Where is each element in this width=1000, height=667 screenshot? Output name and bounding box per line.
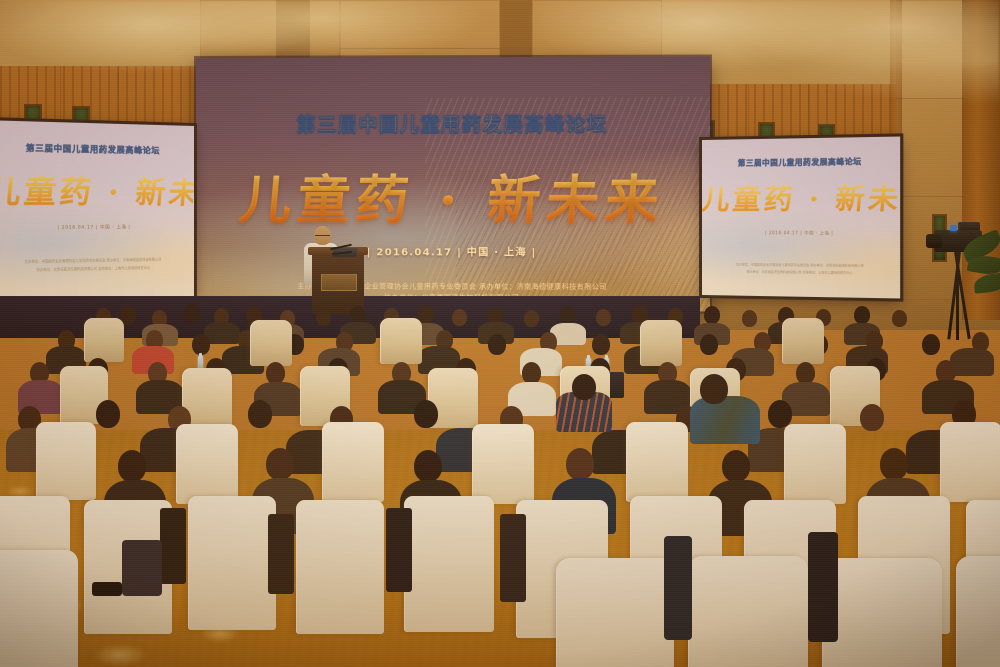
- audience-chair: [626, 422, 688, 502]
- audience-head: [560, 306, 576, 324]
- audience-shoe: [92, 582, 122, 596]
- audience-head: [596, 309, 611, 326]
- left-screen-title: 第三届中国儿童用药发展高峰论坛: [0, 142, 194, 157]
- audience-person-legs: [122, 540, 162, 596]
- audience-head: [524, 310, 539, 327]
- banner-slogan: 儿童药 · 新未来: [196, 158, 710, 234]
- foreground-chair: [404, 496, 494, 632]
- audience-chair: [784, 424, 846, 504]
- audience-chair: [940, 422, 1000, 502]
- speaker-head: [314, 226, 331, 245]
- conference-hall-photo: 第三届中国儿童用药发展高峰论坛 儿童药 · 新未来 | 2016.04.17 |…: [0, 0, 1000, 667]
- audience-head: [248, 400, 272, 428]
- audience-person: [664, 536, 692, 640]
- audience-person-legs: [500, 514, 526, 602]
- audience-head: [266, 362, 285, 384]
- audience-head: [192, 334, 210, 355]
- audience-head: [860, 404, 884, 431]
- foreground-chair-near: [822, 558, 942, 667]
- right-screen-title: 第三届中国儿童用药发展高峰论坛: [702, 155, 900, 169]
- audience-chair: [36, 422, 96, 500]
- audience-head: [316, 309, 331, 326]
- audience-chair: [782, 318, 824, 364]
- wall-seam: [896, 196, 966, 197]
- tripod-leg: [956, 252, 959, 340]
- audience-head: [892, 310, 907, 327]
- camera-indicator-led: [950, 225, 957, 231]
- camera-lens-icon: [926, 234, 942, 248]
- audience-chair: [640, 320, 682, 366]
- left-projection-screen: 第三届中国儿童用药发展高峰论坛 儿童药 · 新未来 | 2016.04.17 |…: [0, 120, 194, 302]
- banner-date-line: | 2016.04.17 | 中国 · 上海 |: [196, 243, 710, 259]
- audience-chair: [84, 318, 124, 362]
- audience-person-blue: [690, 396, 760, 444]
- audience-head: [96, 400, 120, 428]
- audience-chair: [472, 424, 534, 504]
- audience-person-legs: [268, 514, 294, 594]
- audience-head: [184, 304, 200, 323]
- audience-chair: [250, 320, 292, 366]
- audience-head: [880, 448, 908, 480]
- foreground-chair-near: [0, 550, 78, 667]
- audience-head: [266, 448, 294, 480]
- audience-head: [722, 450, 750, 482]
- audience-person-legs: [386, 508, 412, 592]
- audience-head: [700, 374, 728, 404]
- foreground-chair-near: [956, 556, 1000, 667]
- audience-head: [704, 306, 720, 324]
- audience-chair: [322, 422, 384, 502]
- audience-head: [854, 306, 870, 324]
- audience-seating: [0, 300, 1000, 667]
- audience-head: [118, 450, 146, 482]
- audience-head: [414, 400, 438, 428]
- banner-title: 第三届中国儿童用药发展高峰论坛: [196, 109, 710, 137]
- audience-head: [796, 362, 815, 384]
- audience-head: [592, 334, 610, 355]
- foreground-chair-near: [556, 558, 674, 667]
- audience-head: [572, 374, 596, 400]
- audience-head: [566, 448, 594, 480]
- audience-head: [742, 310, 757, 327]
- audience-head: [700, 334, 718, 355]
- audience-head: [488, 334, 506, 355]
- audience-head: [414, 450, 442, 482]
- podium-nameplate: [321, 274, 357, 291]
- audience-chair: [380, 318, 422, 364]
- glasses-icon: [315, 235, 330, 239]
- left-screen-slogan: 儿童药 · 新未来: [0, 165, 194, 212]
- right-screen-slogan: 儿童药 · 新未来: [702, 176, 900, 218]
- foreground-chair: [188, 496, 276, 630]
- foreground-chair-near: [688, 556, 808, 667]
- audience-person-legs: [160, 508, 186, 584]
- audience-person: [808, 532, 838, 642]
- audience-head: [522, 362, 541, 384]
- audience-head: [452, 309, 467, 326]
- stage-backdrop-banner: 第三届中国儿童用药发展高峰论坛 儿童药 · 新未来 | 2016.04.17 |…: [196, 56, 710, 311]
- right-projection-screen: 第三届中国儿童用药发展高峰论坛 儿童药 · 新未来 | 2016.04.17 |…: [702, 137, 900, 299]
- right-screen-date-line: | 2016.04.17 | 中国 · 上海 |: [702, 230, 900, 237]
- audience-person: [950, 348, 994, 376]
- audience-chair: [176, 424, 238, 504]
- banner-organizer-line-1: 主办单位：中国医药企业管理协会儿童用药专业委员会 承办单位：济南海德健康科技有限…: [196, 281, 710, 293]
- foreground-chair: [296, 500, 384, 634]
